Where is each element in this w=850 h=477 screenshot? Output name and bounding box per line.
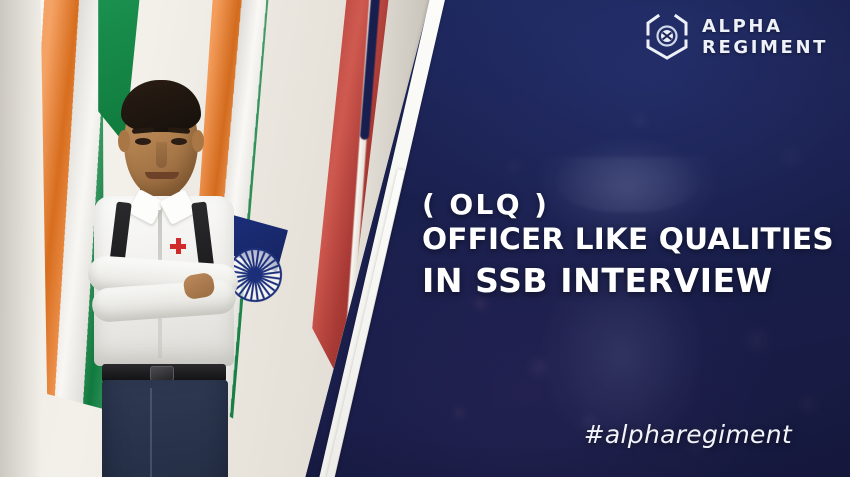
cadet-figure — [88, 78, 238, 477]
wall-shadow-left — [0, 0, 42, 477]
hair — [121, 80, 201, 132]
trouser-crease — [150, 388, 152, 477]
ear-right — [192, 130, 204, 152]
brand-name-line2: REGIMENT — [702, 39, 828, 57]
headline-line-3: IN SSB INTERVIEW — [422, 261, 842, 301]
mouth — [145, 172, 179, 179]
alpha-regiment-hex-icon — [643, 12, 691, 62]
headline-line-1: ( OLQ ) — [422, 188, 842, 221]
brand-name: ALPHA REGIMENT — [702, 18, 828, 57]
ear-left — [118, 130, 130, 152]
brand-name-line1: ALPHA — [702, 18, 828, 36]
eye-left — [135, 138, 151, 145]
video-thumbnail: ALPHA REGIMENT ( OLQ ) OFFICER LIKE QUAL… — [0, 0, 850, 477]
hashtag-label: #alpharegiment — [584, 420, 792, 449]
brand-logo[interactable]: ALPHA REGIMENT — [643, 12, 828, 62]
headline-block: ( OLQ ) OFFICER LIKE QUALITIES IN SSB IN… — [422, 188, 842, 301]
navy-trousers — [102, 380, 228, 477]
red-cross-emblem-icon — [170, 238, 186, 254]
headline-line-2: OFFICER LIKE QUALITIES — [422, 222, 842, 257]
belt-buckle — [150, 366, 174, 381]
nose — [156, 142, 167, 168]
eye-right — [171, 138, 187, 145]
